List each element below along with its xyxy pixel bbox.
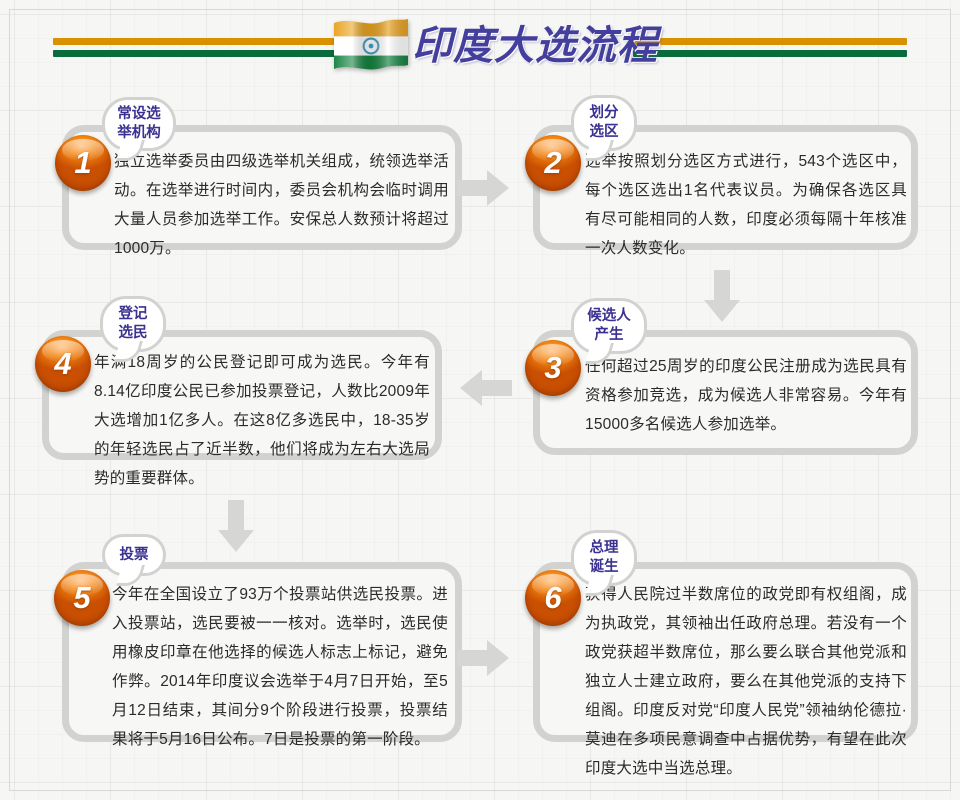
step-number-badge-1: 1 [55, 135, 111, 191]
step-number-badge-3: 3 [525, 340, 581, 396]
header: 印度大选流程 [0, 0, 960, 92]
step-number-2: 2 [525, 135, 581, 191]
step-number-3: 3 [525, 340, 581, 396]
step-card-6[interactable]: 6 总理 诞生 获得人民院过半数席位的政党即有权组阁，成为执政党，其领袖出任政府… [533, 562, 918, 742]
step-body-text-3: 任何超过25周岁的印度公民注册成为选民具有资格参加竞选，成为候选人非常容易。今年… [585, 352, 907, 439]
header-rule-left-saffron [53, 38, 335, 45]
step-label-bubble-4: 登记 选民 [100, 296, 166, 352]
step-number-badge-5: 5 [54, 570, 110, 626]
step-body-text-1: 独立选举委员由四级选举机关组成，统领选举活动。在选举进行时间内，委员会机构会临时… [114, 147, 449, 263]
step-number-badge-2: 2 [525, 135, 581, 191]
step-body-text-2: 选举按照划分选区方式进行，543个选区中，每个选区选出1名代表议员。为确保各选区… [585, 147, 907, 263]
step-number-1: 1 [55, 135, 111, 191]
step-card-2[interactable]: 2 划分 选区 选举按照划分选区方式进行，543个选区中，每个选区选出1名代表议… [533, 125, 918, 250]
step-number-badge-4: 4 [35, 336, 91, 392]
step-card-5[interactable]: 5 投票 今年在全国设立了93万个投票站供选民投票。进入投票站，选民要被一一核对… [62, 562, 462, 742]
infographic-page: 印度大选流程 1 常设选 举机构 独立选举委员由四级选举机关组成，统领选举活动。… [0, 0, 960, 800]
step-card-3[interactable]: 3 候选人 产生 任何超过25周岁的印度公民注册成为选民具有资格参加竞选，成为候… [533, 330, 918, 455]
step-card-1[interactable]: 1 常设选 举机构 独立选举委员由四级选举机关组成，统领选举活动。在选举进行时间… [62, 125, 462, 250]
step-number-5: 5 [54, 570, 110, 626]
step-card-4[interactable]: 4 登记 选民 年满18周岁的公民登记即可成为选民。今年有8.14亿印度公民已参… [42, 330, 442, 460]
arrow-step2-to-step3 [702, 268, 742, 324]
header-rule-right-saffron [633, 38, 907, 45]
page-title: 印度大选流程 [412, 20, 658, 72]
arrow-step3-to-step4 [458, 368, 514, 408]
arrow-step1-to-step2 [455, 168, 511, 208]
step-number-badge-6: 6 [525, 570, 581, 626]
india-flag-icon [332, 17, 410, 75]
step-body-text-5: 今年在全国设立了93万个投票站供选民投票。进入投票站，选民要被一一核对。选举时，… [112, 580, 448, 754]
step-number-6: 6 [525, 570, 581, 626]
header-rule-right-green [633, 50, 907, 57]
arrow-step4-to-step5 [216, 498, 256, 554]
arrow-step5-to-step6 [455, 638, 511, 678]
step-label-bubble-5: 投票 [102, 534, 166, 576]
header-rule-left-green [53, 50, 335, 57]
step-body-text-4: 年满18周岁的公民登记即可成为选民。今年有8.14亿印度公民已参加投票登记，人数… [94, 348, 430, 493]
step-label-bubble-1: 常设选 举机构 [102, 97, 176, 151]
step-number-4: 4 [35, 336, 91, 392]
step-body-text-6: 获得人民院过半数席位的政党即有权组阁，成为执政党，其领袖出任政府总理。若没有一个… [585, 580, 907, 783]
step-label-bubble-3: 候选人 产生 [571, 298, 647, 354]
